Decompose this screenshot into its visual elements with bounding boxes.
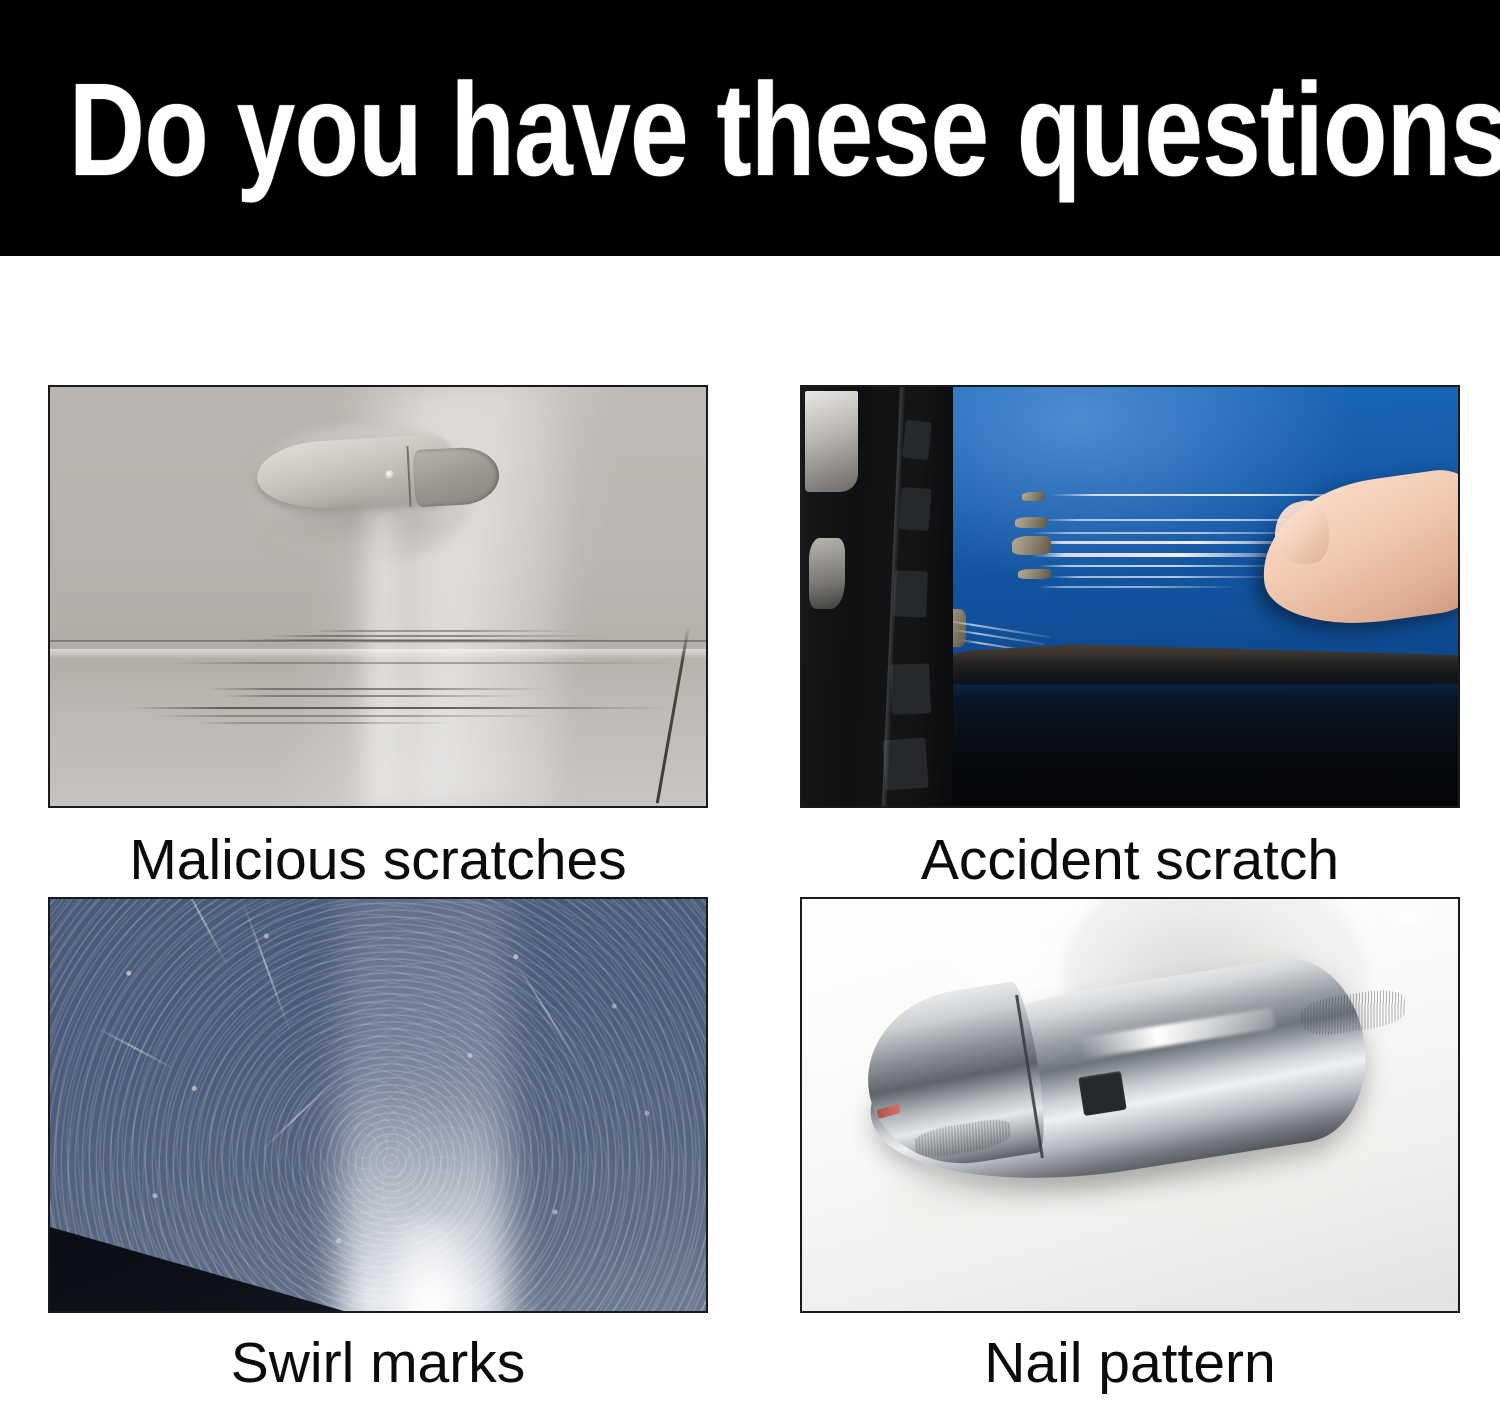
- header-banner: Do you have these questions?: [0, 0, 1500, 256]
- scratch-line: [194, 722, 456, 724]
- card-nail-pattern[interactable]: Nail pattern: [800, 897, 1460, 1313]
- body-crease: [352, 513, 411, 806]
- paint-chip: [1022, 492, 1045, 501]
- scratch-streak: [1051, 576, 1274, 578]
- card-caption: Malicious scratches: [48, 832, 708, 889]
- photo-accident-scratch: [800, 385, 1460, 808]
- tyre-tread: [899, 487, 931, 531]
- card-swirl-marks[interactable]: Swirl marks: [48, 897, 708, 1313]
- card-accident-scratch[interactable]: Accident scratch: [800, 385, 1460, 808]
- paint-chip: [1012, 536, 1051, 555]
- tyre-tread: [893, 571, 927, 618]
- keyhole: [385, 470, 395, 480]
- scratch-line: [221, 695, 523, 697]
- scratch-streak: [1038, 565, 1287, 567]
- scratch-line: [234, 639, 614, 641]
- tyre-tread: [890, 663, 931, 715]
- card-caption: Swirl marks: [48, 1335, 708, 1392]
- scratch-line: [207, 688, 548, 690]
- photo-malicious-scratches: [48, 385, 708, 808]
- card-caption: Accident scratch: [800, 832, 1460, 889]
- paint-chip: [1018, 569, 1051, 579]
- paint-highlight: [1379, 903, 1438, 932]
- glare-hotspot: [391, 1220, 470, 1311]
- scratch-streak: [1038, 586, 1235, 588]
- paint-chip: [1015, 517, 1048, 528]
- scratch-line: [168, 662, 680, 664]
- scratch-line: [266, 635, 594, 637]
- scratch-type-grid: Malicious scratches: [0, 256, 1500, 1416]
- wheel-highlight: [805, 391, 857, 492]
- character-line-highlight: [50, 649, 706, 659]
- card-caption: Nail pattern: [800, 1335, 1460, 1392]
- scratch-line: [129, 707, 667, 709]
- photo-nail-pattern: [800, 897, 1460, 1313]
- page-title: Do you have these questions?: [0, 64, 1500, 196]
- scratch-line: [155, 715, 549, 717]
- photo-swirl-marks: [48, 897, 708, 1313]
- scratch-line: [312, 630, 574, 632]
- keyless-entry-button: [1078, 1071, 1126, 1116]
- card-malicious-scratches[interactable]: Malicious scratches: [48, 385, 708, 808]
- tyre-tread: [902, 419, 932, 459]
- wheel-highlight: [809, 538, 845, 609]
